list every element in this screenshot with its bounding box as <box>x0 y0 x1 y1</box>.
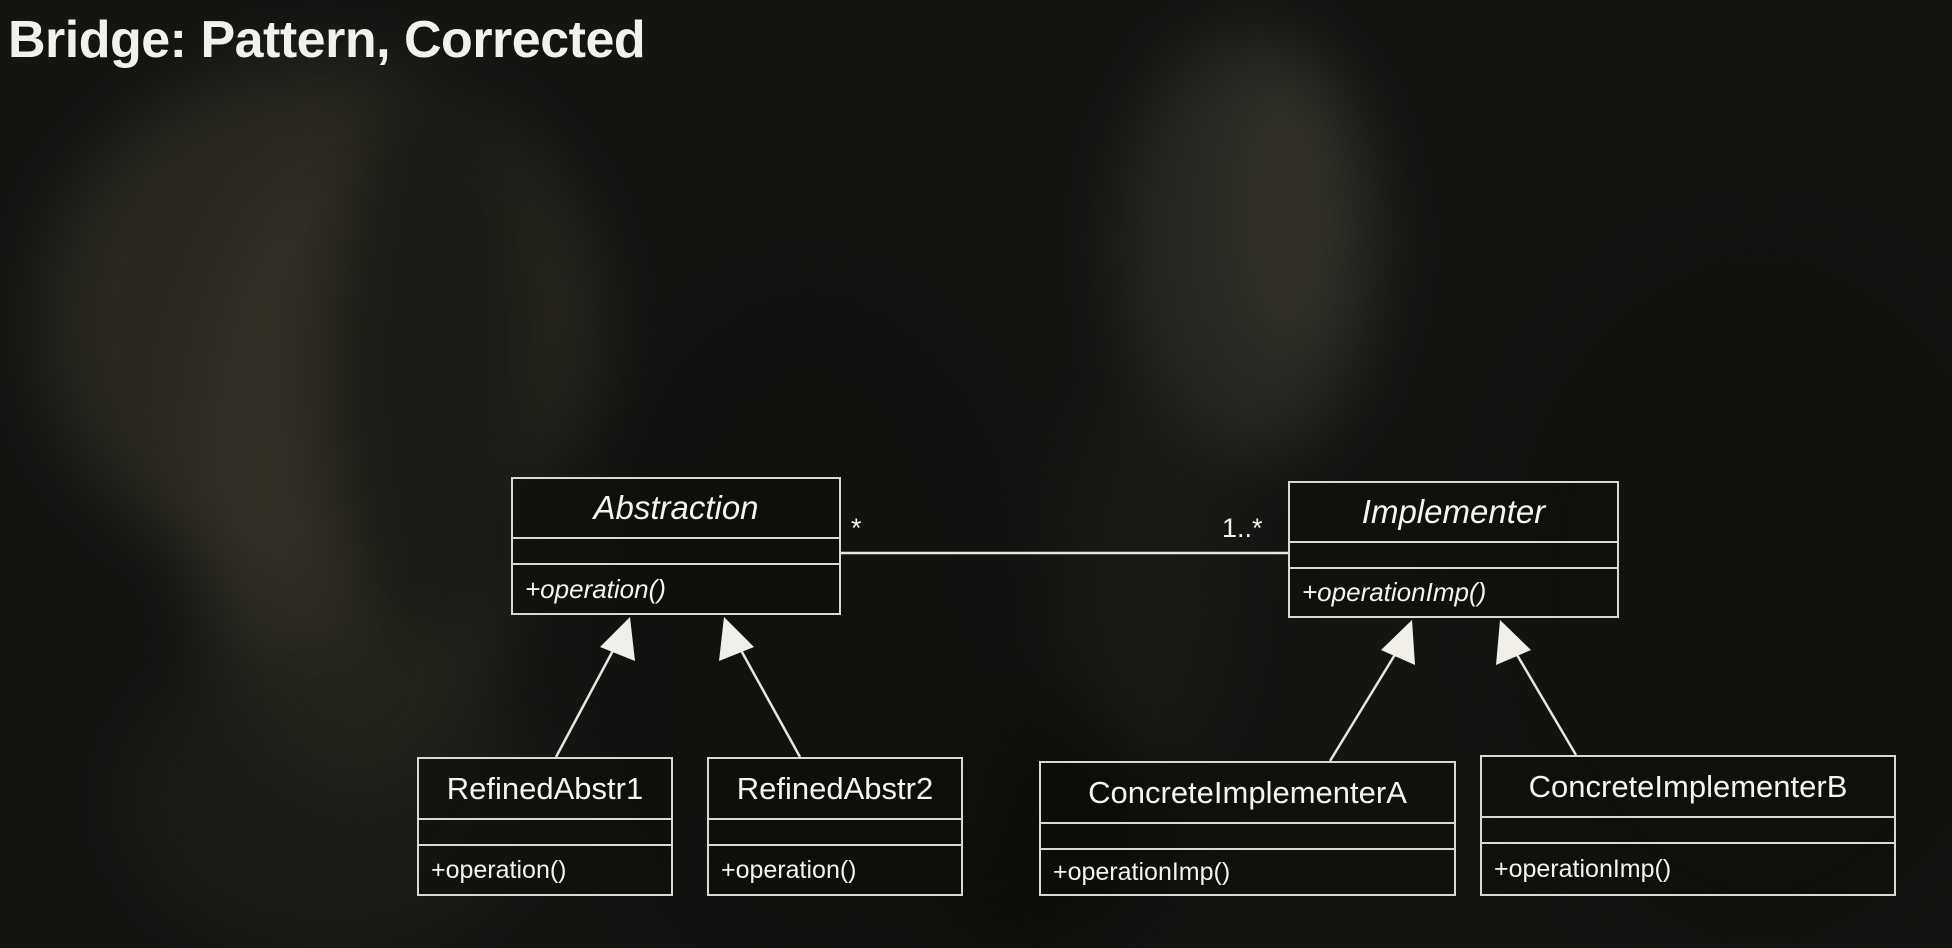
uml-class-name: ConcreteImplementerB <box>1482 757 1894 816</box>
uml-operation: +operation() <box>419 844 671 894</box>
uml-operation: +operation() <box>709 844 961 894</box>
uml-class-name: Abstraction <box>513 479 839 537</box>
multiplicity-abstraction-end: * <box>851 513 862 544</box>
uml-attributes-compartment <box>419 818 671 844</box>
uml-attributes-compartment <box>1041 822 1454 848</box>
uml-operation: +operationImp() <box>1290 567 1617 616</box>
uml-class-name: RefinedAbstr2 <box>709 759 961 818</box>
page-title: Bridge: Pattern, Corrected <box>8 10 645 70</box>
generalization-arrowhead-refined2 <box>719 617 754 661</box>
uml-class-refinedabstr2[interactable]: RefinedAbstr2 +operation() <box>707 757 963 896</box>
uml-attributes-compartment <box>1290 541 1617 567</box>
uml-class-name: Implementer <box>1290 483 1617 541</box>
uml-operation: +operationImp() <box>1041 848 1454 894</box>
generalization-arrowhead-refined1 <box>600 617 635 661</box>
uml-class-concreteimplementera[interactable]: ConcreteImplementerA +operationImp() <box>1039 761 1456 896</box>
uml-operation: +operation() <box>513 563 839 613</box>
generalization-line-concreteA <box>1330 648 1399 761</box>
slide: Bridge: Pattern, Corrected * 1..* Abstra… <box>0 0 1952 948</box>
generalization-line-concreteB <box>1513 648 1576 755</box>
uml-class-implementer[interactable]: Implementer +operationImp() <box>1288 481 1619 618</box>
uml-operation: +operationImp() <box>1482 842 1894 894</box>
uml-attributes-compartment <box>709 818 961 844</box>
uml-class-concreteimplementerb[interactable]: ConcreteImplementerB +operationImp() <box>1480 755 1896 896</box>
generalization-line-refined1 <box>556 643 617 757</box>
uml-class-refinedabstr1[interactable]: RefinedAbstr1 +operation() <box>417 757 673 896</box>
generalization-line-refined2 <box>737 643 800 757</box>
uml-class-name: RefinedAbstr1 <box>419 759 671 818</box>
uml-class-name: ConcreteImplementerA <box>1041 763 1454 822</box>
uml-attributes-compartment <box>1482 816 1894 842</box>
generalization-arrowhead-concreteB <box>1496 620 1531 665</box>
uml-class-abstraction[interactable]: Abstraction +operation() <box>511 477 841 615</box>
multiplicity-implementer-end: 1..* <box>1222 513 1263 544</box>
uml-attributes-compartment <box>513 537 839 563</box>
generalization-arrowhead-concreteA <box>1381 620 1415 665</box>
